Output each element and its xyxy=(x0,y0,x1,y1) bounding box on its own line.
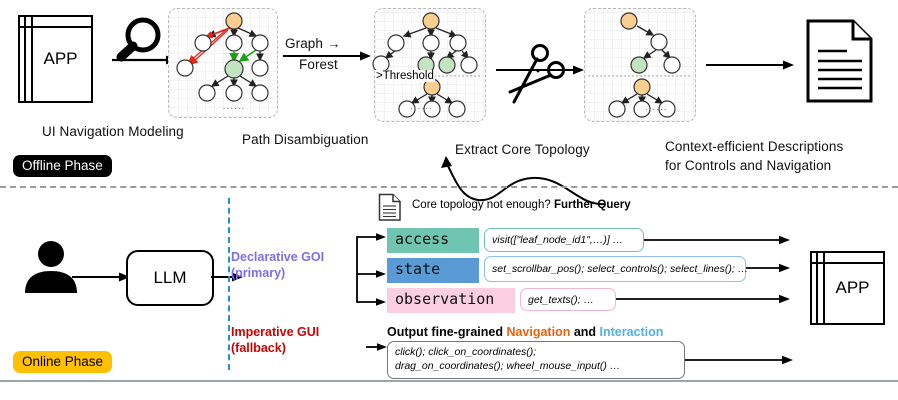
headline-seg-navigation: Navigation xyxy=(506,325,570,339)
tree-node xyxy=(177,60,193,76)
tree-node xyxy=(450,35,466,51)
tree-node xyxy=(252,60,268,76)
threshold-label: >Threshold xyxy=(375,70,435,82)
book-top-line xyxy=(20,26,91,28)
further-query-bold: Further Query xyxy=(554,199,631,211)
caption-context-efficient-line1: Context-efficient Descriptions xyxy=(665,139,843,154)
declarative-goi-title: Declarative GOI xyxy=(231,250,324,264)
headline-seg-interaction: Interaction xyxy=(600,325,664,339)
online-phase-badge: Online Phase xyxy=(13,351,112,373)
branch-divider xyxy=(228,198,230,370)
diagram-root: APP xyxy=(0,0,898,400)
tree-node-green xyxy=(631,57,647,73)
tree-node-root-highlight xyxy=(226,13,242,29)
tree1-ellipsis: ...... xyxy=(223,101,246,112)
tree-node xyxy=(423,35,439,51)
arrow-user-to-llm xyxy=(72,272,134,286)
tree-node xyxy=(664,57,680,73)
tree-node xyxy=(651,34,667,50)
further-query-plain: Core topology not enough? xyxy=(412,199,551,211)
bottom-rule xyxy=(0,380,898,382)
llm-label: LLM xyxy=(153,268,186,288)
user-icon xyxy=(22,240,80,298)
further-query-text: Core topology not enough? Further Query xyxy=(412,199,631,211)
graph-forest-label-line1: Graph → xyxy=(285,36,340,51)
tree-node xyxy=(195,35,211,51)
caption-context-efficient-line2: for Controls and Navigation xyxy=(665,158,831,173)
tree-node xyxy=(609,101,625,117)
phase-divider xyxy=(0,186,898,188)
imperative-code-box[interactable]: click(); click_on_coordinates(); drag_on… xyxy=(387,341,685,379)
tree-node xyxy=(461,57,477,73)
llm-box: LLM xyxy=(126,250,214,306)
tree-node xyxy=(388,35,404,51)
caption-path-disambiguation: Path Disambiguation xyxy=(242,132,368,147)
book-top-line xyxy=(812,262,883,264)
tree-node xyxy=(226,85,242,101)
goi-value-access[interactable]: visit(["leaf_node_id1",…)] … xyxy=(484,228,644,252)
declarative-goi-subtitle: (primary) xyxy=(231,266,285,280)
app-box-offline: APP xyxy=(18,15,93,103)
app-label-online: APP xyxy=(812,278,883,298)
tree1-nodes xyxy=(177,13,268,101)
offline-phase-badge: Offline Phase xyxy=(13,155,112,177)
imperative-code-line1: click(); click_on_coordinates(); xyxy=(395,345,677,359)
tree-node-green xyxy=(439,57,455,73)
arrow-tree2-to-tree3 xyxy=(496,66,584,75)
scissors-icon xyxy=(510,46,564,103)
tree-node-root-highlight xyxy=(621,13,637,29)
tree3-ellipsis: ...... xyxy=(645,102,668,113)
goi-value-observation[interactable]: get_texts(); … xyxy=(520,288,616,311)
headline-seg-output: Output fine-grained xyxy=(387,325,506,339)
scissors-arrow-group xyxy=(496,40,588,110)
document-icon-offline xyxy=(805,18,875,104)
tree-node-target-highlight xyxy=(225,60,243,78)
tree-graph-3 xyxy=(584,8,696,122)
imperative-gui-title: Imperative GUI xyxy=(231,325,319,339)
tree1-edges-green xyxy=(234,50,256,61)
app-box-online: APP xyxy=(810,251,885,325)
imperative-gui-subtitle: (fallback) xyxy=(231,341,286,355)
tree-node xyxy=(252,35,268,51)
arrow-tree3-to-document xyxy=(706,60,798,74)
caption-ui-navigation-modeling: UI Navigation Modeling xyxy=(42,124,184,139)
arrow-state-to-app xyxy=(746,264,794,276)
tree2-ellipsis: ...... xyxy=(410,101,433,112)
app-label-offline: APP xyxy=(20,49,91,69)
goi-chip-access[interactable]: access xyxy=(387,228,479,253)
tree-node xyxy=(449,101,465,117)
arrow-imperative-to-app xyxy=(685,356,797,368)
arrow-access-to-app xyxy=(644,237,794,249)
arrow-tree1-to-tree2 xyxy=(283,52,373,72)
tree-node xyxy=(252,85,268,101)
goi-chip-state[interactable]: state xyxy=(387,258,479,283)
arrow-observation-to-app xyxy=(616,295,794,307)
imperative-headline: Output fine-grained Navigation and Inter… xyxy=(387,325,663,339)
magnifier-icon xyxy=(121,20,158,57)
document-icon-further-query xyxy=(378,193,402,222)
tree-node xyxy=(199,85,215,101)
goi-chip-observation[interactable]: observation xyxy=(387,288,515,313)
tree-node xyxy=(226,35,242,51)
tree-graph-1: ...... xyxy=(168,8,278,118)
imperative-code-line2: drag_on_coordinates(); wheel_mouse_input… xyxy=(395,359,677,373)
tree-node-root-highlight xyxy=(634,79,650,95)
tree-node-root-highlight xyxy=(423,13,439,29)
goi-value-state[interactable]: set_scrollbar_pos(); select_controls(); … xyxy=(484,256,746,282)
headline-seg-and: and xyxy=(570,325,599,339)
declarative-branch-connectors xyxy=(355,230,389,310)
